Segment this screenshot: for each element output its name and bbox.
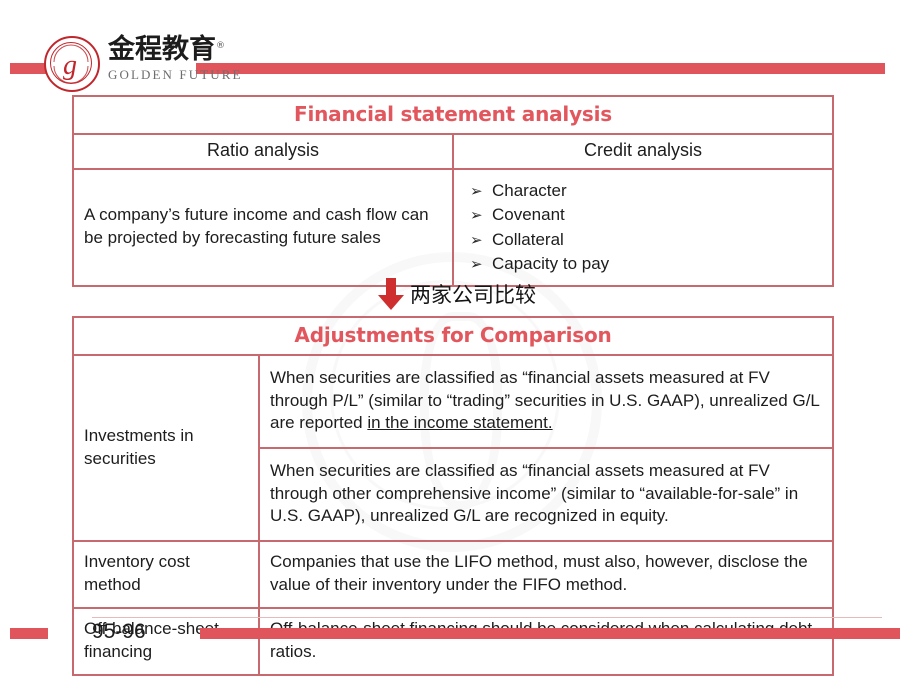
logo-seal-icon: g <box>44 36 100 92</box>
table-row-content: A company’s future income and cash flow … <box>73 169 833 286</box>
cell-text: When securities are classified as “finan… <box>270 461 798 525</box>
list-item: ➢Collateral <box>470 228 822 252</box>
connector-group: 两家公司比较 <box>378 276 536 312</box>
off-balance-sheet-financing-cell: Off-balance-sheet financing should be co… <box>259 608 833 675</box>
logo-chinese-text: 金程教育 <box>108 34 216 65</box>
brand-logo: g 金程教育® GOLDEN FUTURE <box>44 36 243 98</box>
footer-hairline <box>92 617 882 618</box>
arrow-bullet-icon: ➢ <box>470 254 492 275</box>
table-one-title: Financial statement analysis <box>73 96 833 134</box>
arrow-bullet-icon: ➢ <box>470 230 492 251</box>
arrow-bullet-icon: ➢ <box>470 181 492 202</box>
column-header-credit-analysis: Credit analysis <box>453 134 833 169</box>
table-row-title: Adjustments for Comparison <box>73 317 833 355</box>
bullet-label: Collateral <box>492 230 564 249</box>
logo-wordmark: 金程教育® GOLDEN FUTURE <box>108 36 243 83</box>
footer-page-range: 95-96 <box>92 620 146 644</box>
list-item: ➢Capacity to pay <box>470 252 822 276</box>
logo-english-name: GOLDEN FUTURE <box>108 67 243 83</box>
bullet-label: Capacity to pay <box>492 254 609 273</box>
logo-chinese-name: 金程教育® <box>108 36 243 64</box>
credit-bullet-list: ➢Character ➢Covenant ➢Collateral ➢Capaci… <box>470 179 822 276</box>
bullet-label: Character <box>492 181 567 200</box>
header-accent-bar-main <box>196 63 885 74</box>
svg-text:g: g <box>63 50 77 81</box>
footer-accent-bar-left <box>10 628 48 639</box>
list-item: ➢Covenant <box>470 203 822 227</box>
arrow-bullet-icon: ➢ <box>470 205 492 226</box>
column-header-ratio-analysis: Ratio analysis <box>73 134 453 169</box>
cell-text: Companies that use the LIFO method, must… <box>270 552 808 594</box>
row-label-inventory-cost-method: Inventory cost method <box>73 541 259 608</box>
inventory-cost-method-cell: Companies that use the LIFO method, must… <box>259 541 833 608</box>
cell-text-underlined: in the income statement. <box>367 413 552 432</box>
cell-text: Off-balance-sheet financing should be co… <box>270 619 812 661</box>
table-row-columns: Ratio analysis Credit analysis <box>73 134 833 169</box>
slide-canvas: g 金程教育® GOLDEN FUTURE Financial statemen… <box>0 0 903 689</box>
table-row-title: Financial statement analysis <box>73 96 833 134</box>
adjustments-for-comparison-table: Adjustments for Comparison Investments i… <box>72 316 834 676</box>
table-two-title: Adjustments for Comparison <box>73 317 833 355</box>
table-row: Inventory cost method Companies that use… <box>73 541 833 608</box>
ratio-analysis-body: A company’s future income and cash flow … <box>73 169 453 286</box>
down-arrow-icon <box>378 278 404 310</box>
investments-cell-fvpl: When securities are classified as “finan… <box>259 355 833 448</box>
table-row: Off-balance-sheet financing Off-balance-… <box>73 608 833 675</box>
row-label-investments-in-securities: Investments in securities <box>73 355 259 541</box>
investments-cell-fvoci: When securities are classified as “finan… <box>259 448 833 541</box>
seal-g-monogram-icon: g <box>44 36 100 92</box>
financial-statement-analysis-table: Financial statement analysis Ratio analy… <box>72 95 834 287</box>
table-row: Investments in securities When securitie… <box>73 355 833 448</box>
header-accent-bar-left <box>10 63 48 74</box>
list-item: ➢Character <box>470 179 822 203</box>
credit-analysis-bullets: ➢Character ➢Covenant ➢Collateral ➢Capaci… <box>453 169 833 286</box>
footer-accent-bar-main <box>200 628 900 639</box>
connector-caption: 两家公司比较 <box>410 279 536 309</box>
registered-mark: ® <box>216 41 225 51</box>
bullet-label: Covenant <box>492 205 565 224</box>
